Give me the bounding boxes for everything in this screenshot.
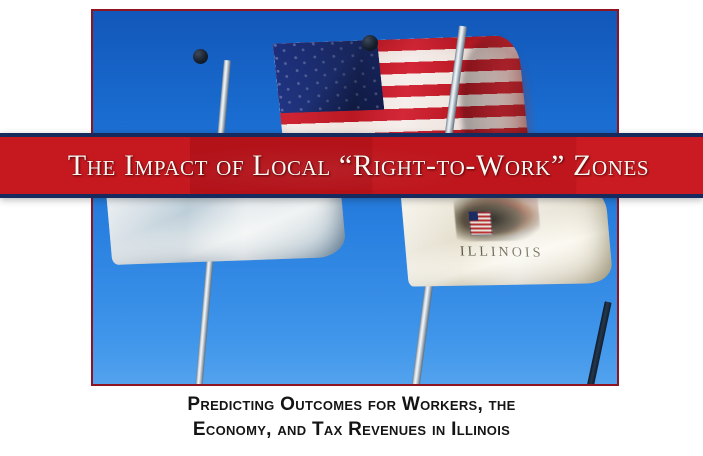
page-title: The Impact of Local “Right-to-Work” Zone… — [0, 149, 703, 183]
page-subtitle-line-2: Economy, and Tax Revenues in Illinois — [0, 417, 703, 442]
illinois-flag-shading — [401, 191, 613, 286]
flagpole-finial-front — [362, 35, 378, 51]
illinois-state-flag: ILLINOIS — [401, 191, 613, 286]
flagpole-finial-rear — [193, 49, 208, 64]
page-subtitle-line-1: Predicting Outcomes for Workers, the — [0, 392, 703, 417]
title-banner: The Impact of Local “Right-to-Work” Zone… — [0, 133, 703, 198]
report-cover: ILLINOIS The Impact of Local “Right-to-W… — [0, 0, 703, 456]
page-subtitle: Predicting Outcomes for Workers, the Eco… — [0, 392, 703, 442]
